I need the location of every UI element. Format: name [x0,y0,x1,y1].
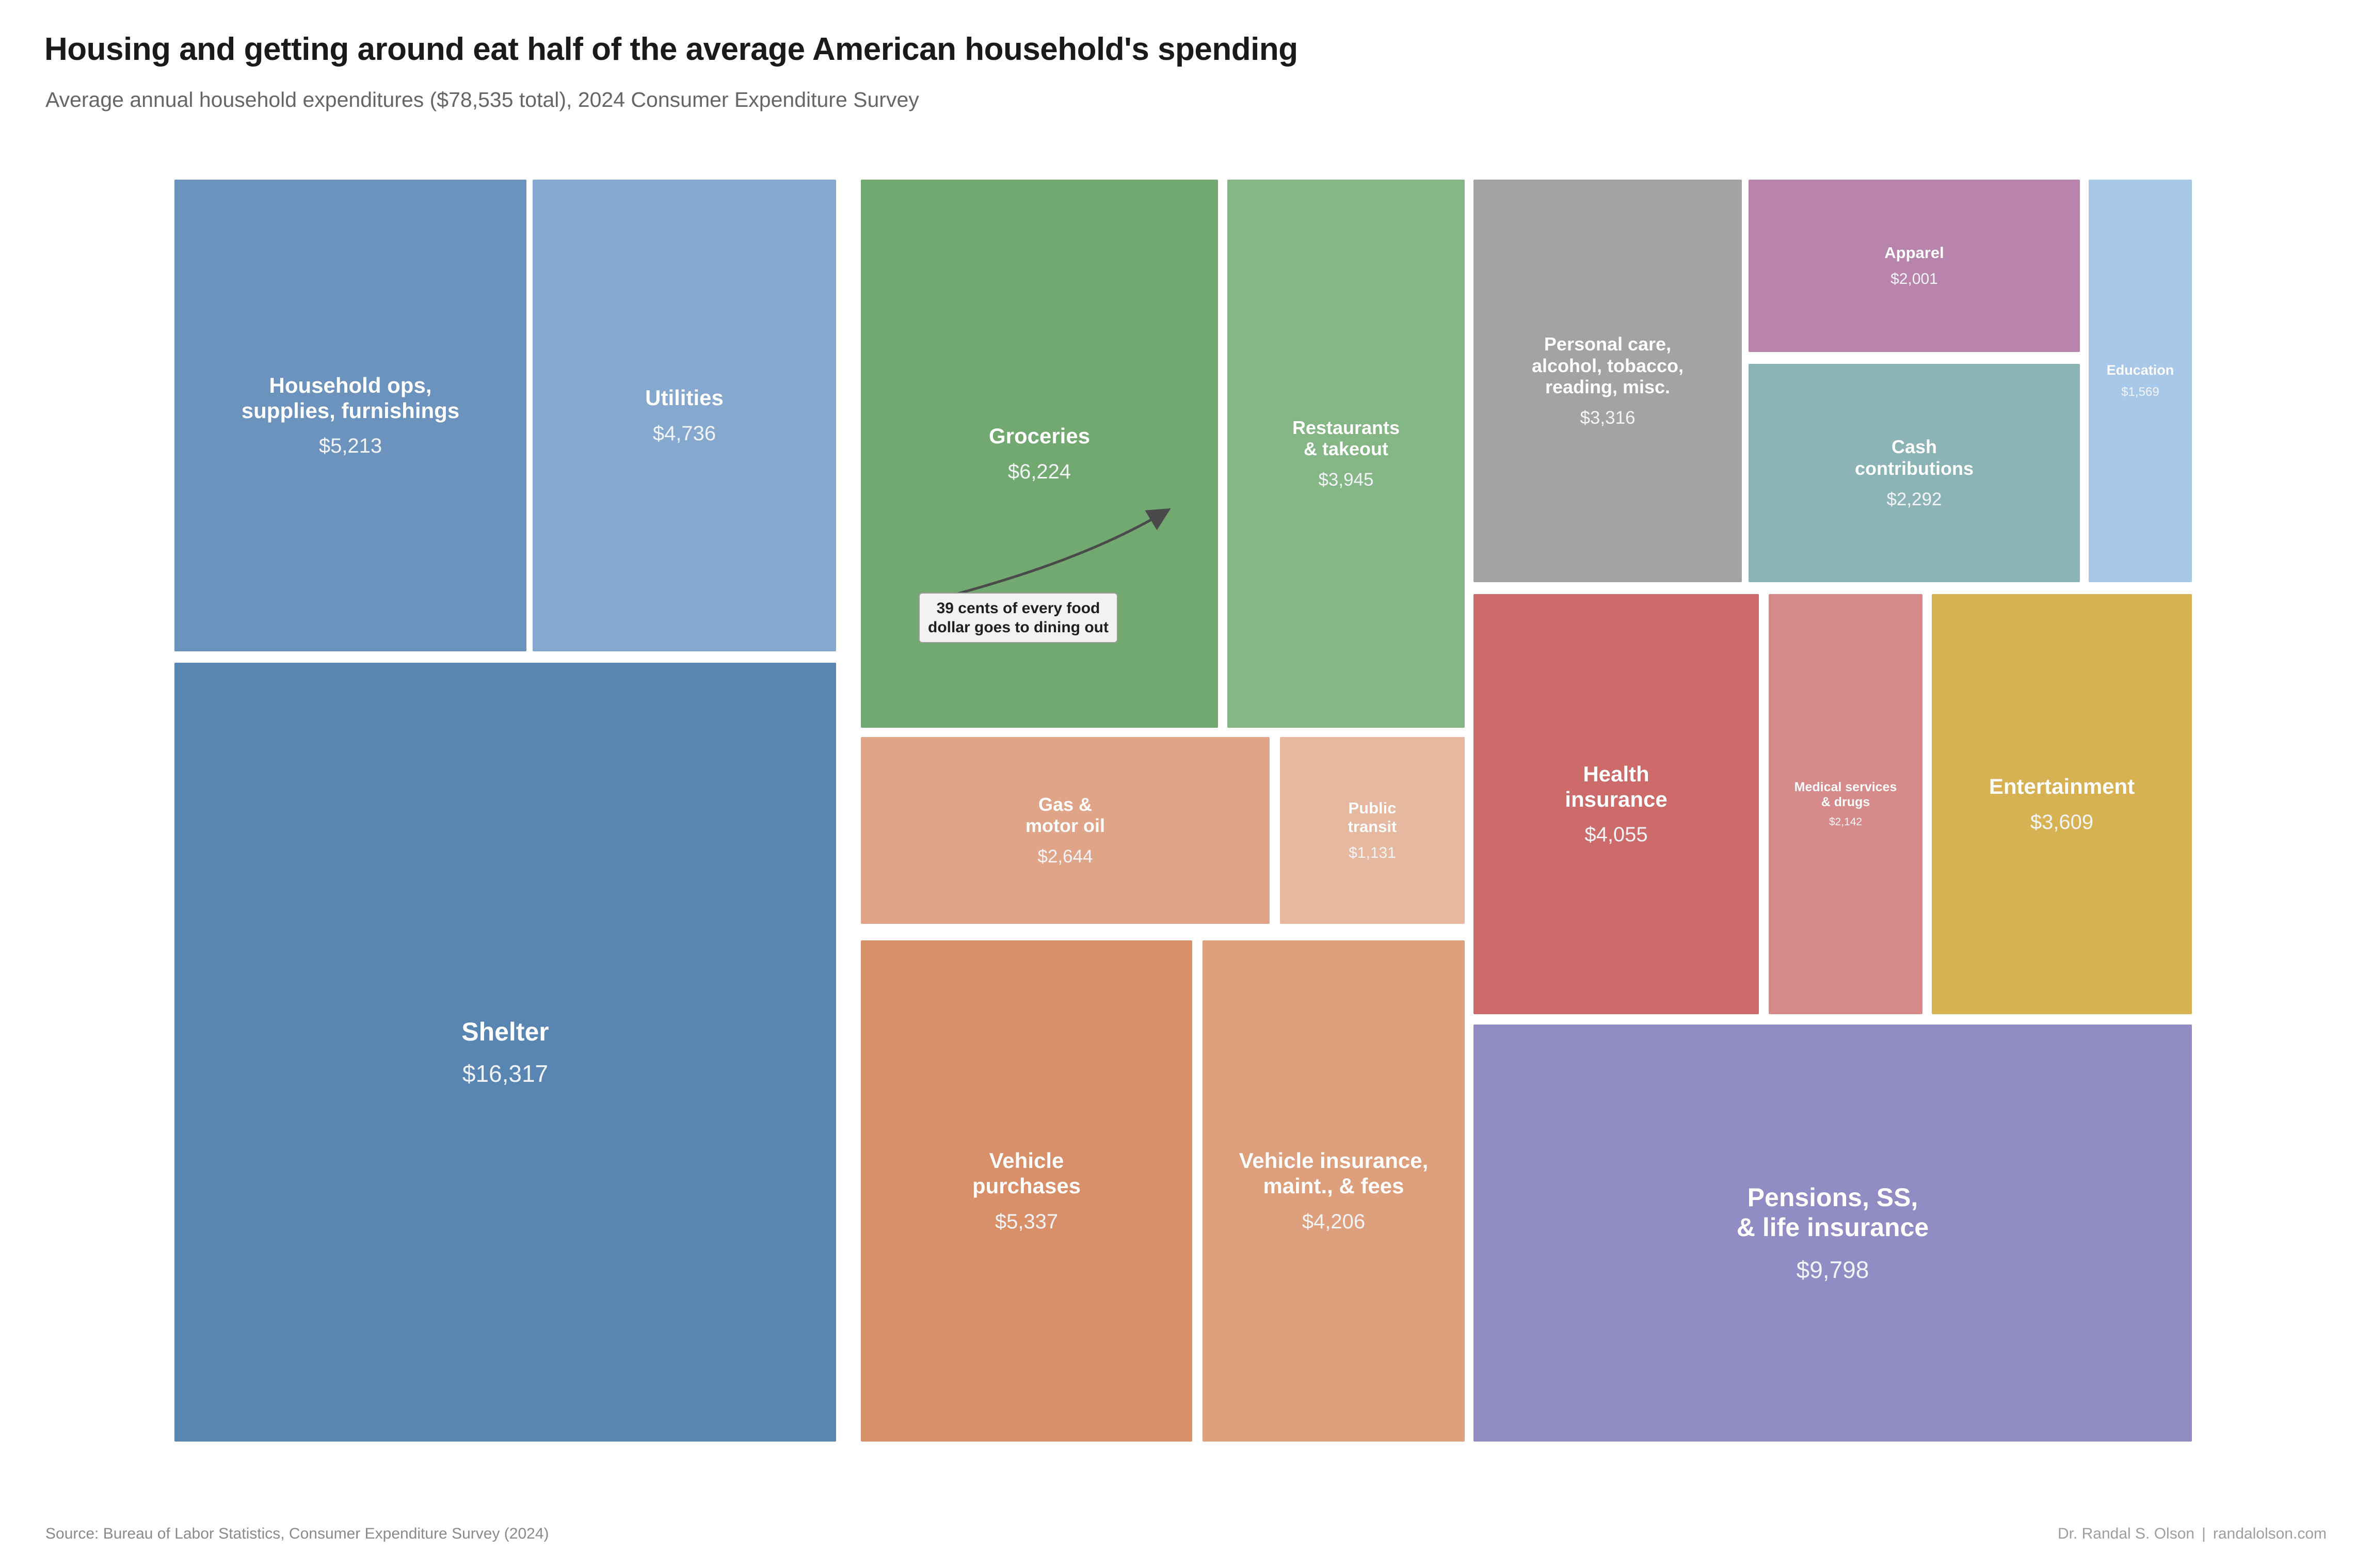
page-title: Housing and getting around eat half of t… [44,31,1298,68]
tile-value: $1,131 [1349,844,1396,862]
tile-label: Apparel [1884,244,1944,262]
treemap-tile-restaurants[interactable]: Restaurants & takeout $3,945 [1227,180,1465,728]
tile-value: $2,644 [1037,846,1093,867]
tile-value: $3,945 [1318,470,1373,490]
tile-label: Gas & motor oil [1025,794,1105,837]
treemap-tile-personal-care[interactable]: Personal care, alcohol, tobacco, reading… [1473,180,1742,582]
tile-label: Medical services & drugs [1794,780,1897,810]
treemap-tile-utilities[interactable]: Utilities $4,736 [533,180,836,651]
tile-label: Restaurants & takeout [1292,417,1400,460]
tile-value: $6,224 [1008,460,1071,484]
tile-value: $4,206 [1302,1210,1365,1234]
tile-label: Education [2107,362,2174,378]
tile-label: Entertainment [1989,774,2135,799]
tile-label: Shelter [461,1017,549,1047]
tile-value: $4,055 [1584,823,1647,846]
treemap: Household ops, supplies, furnishings $5,… [174,180,2192,1442]
treemap-tile-medical-services[interactable]: Medical services & drugs $2,142 [1769,594,1922,1014]
treemap-tile-gas-motor-oil[interactable]: Gas & motor oil $2,644 [861,737,1270,924]
treemap-tile-public-transit[interactable]: Public transit $1,131 [1280,737,1465,924]
tile-label: Health insurance [1565,762,1667,812]
footer-credit: Dr. Randal S. Olson|randalolson.com [2058,1525,2327,1543]
treemap-tile-pensions[interactable]: Pensions, SS, & life insurance $9,798 [1473,1025,2192,1442]
treemap-tile-shelter[interactable]: Shelter $16,317 [174,663,836,1442]
annotation-label: 39 cents of every food dollar goes to di… [919,593,1118,643]
tile-label: Pensions, SS, & life insurance [1737,1182,1929,1242]
tile-label: Vehicle insurance, maint., & fees [1239,1148,1429,1198]
tile-value: $2,142 [1829,816,1862,828]
treemap-tile-apparel[interactable]: Apparel $2,001 [1749,180,2080,352]
treemap-tile-education[interactable]: Education $1,569 [2089,180,2192,582]
footer-separator: | [2194,1525,2213,1542]
tile-label: Groceries [989,424,1090,449]
footer-site[interactable]: randalolson.com [2213,1525,2327,1542]
tile-value: $16,317 [462,1060,548,1087]
tile-value: $2,001 [1890,270,1938,288]
treemap-tile-vehicle-insurance[interactable]: Vehicle insurance, maint., & fees $4,206 [1203,940,1465,1442]
tile-label: Public transit [1348,799,1397,836]
treemap-tile-health-insurance[interactable]: Health insurance $4,055 [1473,594,1759,1014]
tile-label: Vehicle purchases [972,1148,1081,1198]
tile-value: $1,569 [2121,385,2159,399]
treemap-tile-entertainment[interactable]: Entertainment $3,609 [1932,594,2192,1014]
footer-source: Source: Bureau of Labor Statistics, Cons… [45,1525,549,1543]
treemap-tile-groceries[interactable]: Groceries $6,224 [861,180,1218,728]
tile-label: Cash contributions [1855,436,1974,479]
treemap-tile-vehicle-purchases[interactable]: Vehicle purchases $5,337 [861,940,1192,1442]
footer-author: Dr. Randal S. Olson [2058,1525,2194,1542]
tile-value: $2,292 [1886,489,1942,510]
treemap-tile-cash-contributions[interactable]: Cash contributions $2,292 [1749,364,2080,582]
tile-value: $5,213 [319,435,382,458]
tile-label: Household ops, supplies, furnishings [242,373,459,423]
tile-label: Utilities [645,386,724,411]
tile-value: $5,337 [995,1210,1058,1234]
treemap-tile-household-ops[interactable]: Household ops, supplies, furnishings $5,… [174,180,526,651]
tile-value: $4,736 [653,422,716,445]
tile-value: $3,316 [1580,408,1635,428]
tile-value: $9,798 [1797,1256,1869,1284]
tile-label: Personal care, alcohol, tobacco, reading… [1532,333,1684,398]
chart-canvas: Housing and getting around eat half of t… [0,0,2372,1568]
page-subtitle: Average annual household expenditures ($… [45,88,919,112]
tile-value: $3,609 [2030,811,2093,834]
